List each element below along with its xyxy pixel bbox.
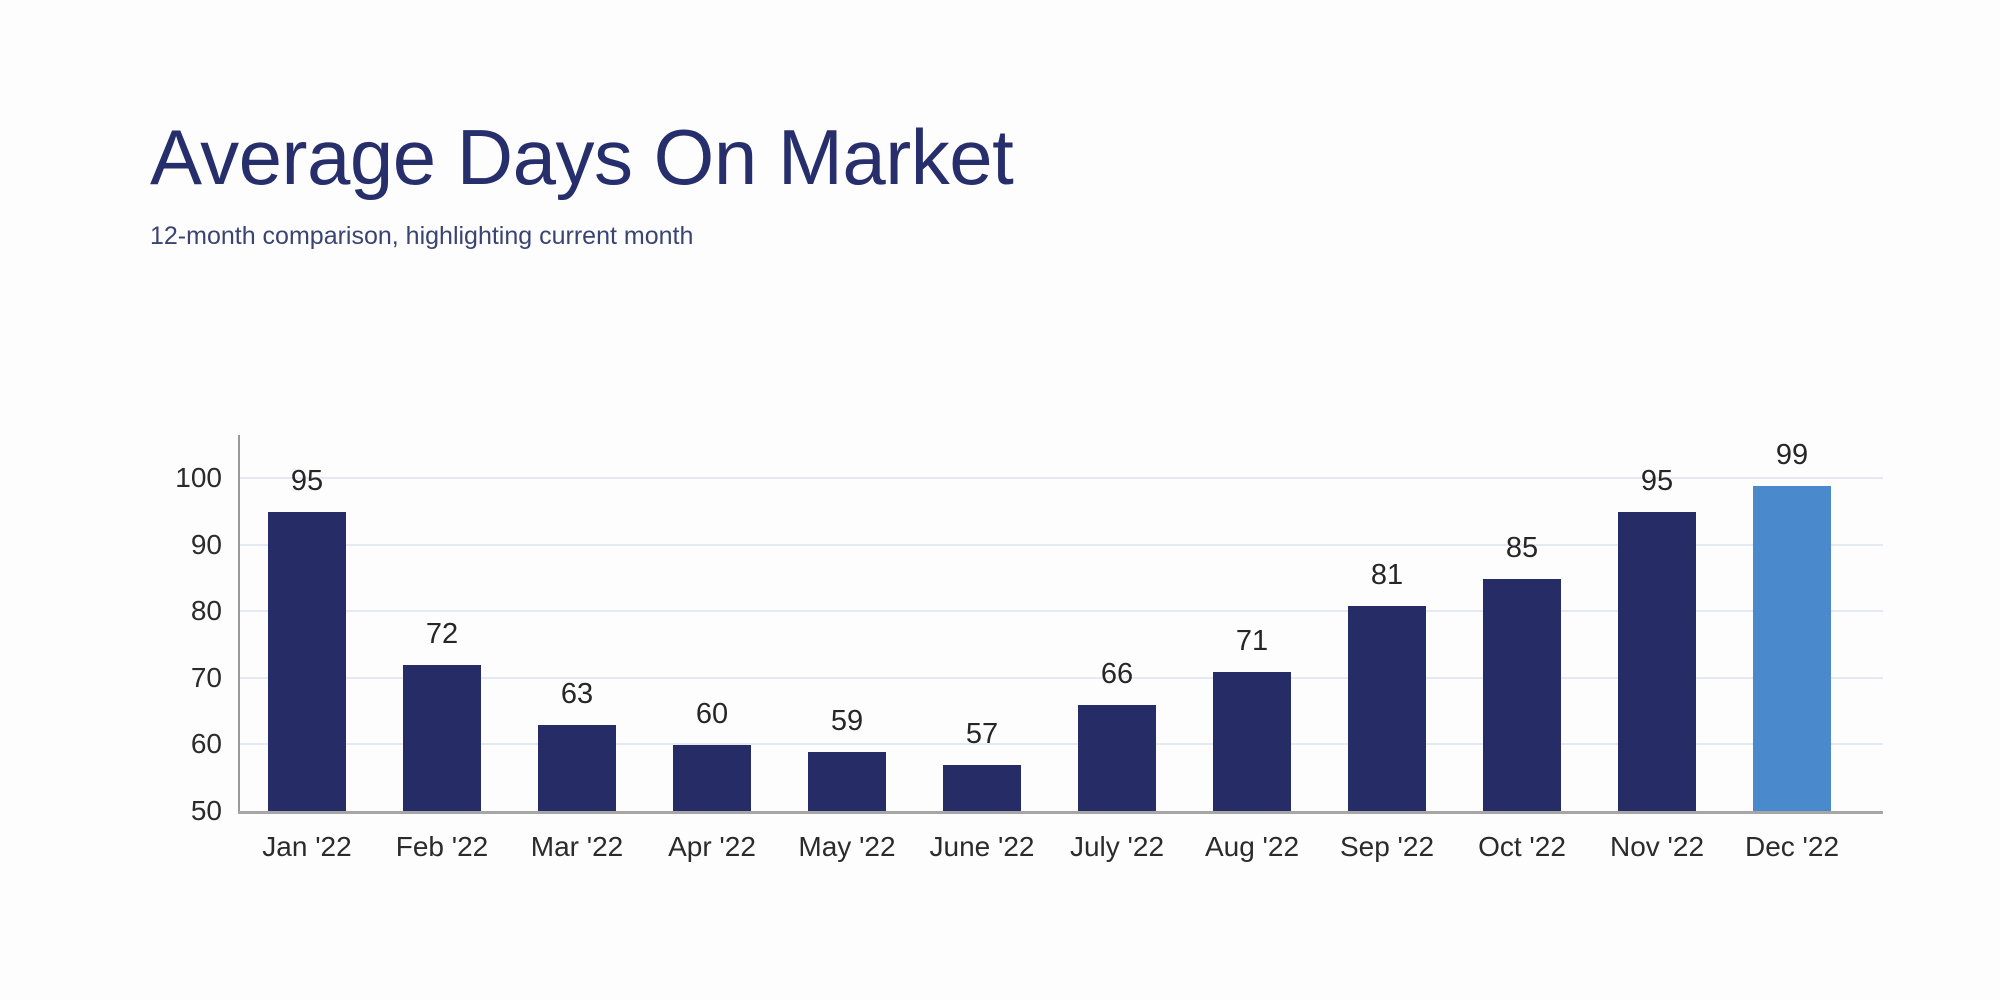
bar-value-label: 63 [514,680,640,709]
bar-item[interactable]: 81 [1348,606,1426,812]
x-axis-tick-label: July '22 [1050,833,1184,861]
bar[interactable] [403,665,481,812]
bar-chart: 5060708090100 957263605957667181859599 J… [0,0,2000,1000]
x-axis-tick-label: Aug '22 [1185,833,1319,861]
x-axis-line [238,811,1883,814]
y-axis-tick-label: 90 [142,531,222,559]
x-axis-tick-label: Feb '22 [375,833,509,861]
y-axis-tick-label: 60 [142,730,222,758]
bar-item[interactable]: 66 [1078,705,1156,812]
y-axis-tick-label: 100 [142,464,222,492]
bar-highlighted[interactable] [1753,486,1831,812]
bar[interactable] [538,725,616,812]
bar[interactable] [943,765,1021,812]
bar-item[interactable]: 72 [403,665,481,812]
bar-item[interactable]: 57 [943,765,1021,812]
bar-value-label: 71 [1189,627,1315,656]
bar-item[interactable]: 95 [1618,512,1696,812]
x-axis-tick-label: Apr '22 [645,833,779,861]
bar[interactable] [1618,512,1696,812]
bar-item[interactable]: 71 [1213,672,1291,812]
bar-value-label: 72 [379,620,505,649]
bar-value-label: 59 [784,707,910,736]
bar-value-label: 57 [919,720,1045,749]
y-axis-tick-label: 70 [142,664,222,692]
bar-item[interactable]: 85 [1483,579,1561,812]
bar[interactable] [1348,606,1426,812]
bar[interactable] [808,752,886,812]
bar-value-label: 60 [649,700,775,729]
y-axis-tick-label: 50 [142,797,222,825]
y-axis-line [238,435,240,813]
bar-value-label: 95 [244,467,370,496]
slide-canvas: Average Days On Market 12-month comparis… [0,0,2000,1000]
y-axis-tick-label: 80 [142,597,222,625]
bar[interactable] [673,745,751,812]
x-axis-tick-label: Oct '22 [1455,833,1589,861]
x-axis-tick-label: Jan '22 [240,833,374,861]
x-axis-tick-label: May '22 [780,833,914,861]
x-axis-tick-label: Sep '22 [1320,833,1454,861]
bar[interactable] [1213,672,1291,812]
bar-item[interactable]: 59 [808,752,886,812]
x-axis-tick-label: Dec '22 [1725,833,1859,861]
bar-value-label: 95 [1594,467,1720,496]
bar-value-label: 81 [1324,561,1450,590]
bar[interactable] [1483,579,1561,812]
x-axis-tick-label: Mar '22 [510,833,644,861]
bar-item[interactable]: 63 [538,725,616,812]
bar-item[interactable]: 95 [268,512,346,812]
x-axis-tick-label: June '22 [915,833,1049,861]
bar-value-label: 99 [1729,441,1855,470]
x-axis-tick-label: Nov '22 [1590,833,1724,861]
bar-value-label: 85 [1459,534,1585,563]
bar[interactable] [268,512,346,812]
bar-item[interactable]: 60 [673,745,751,812]
bar-item[interactable]: 99 [1753,486,1831,812]
bar[interactable] [1078,705,1156,812]
bar-value-label: 66 [1054,660,1180,689]
